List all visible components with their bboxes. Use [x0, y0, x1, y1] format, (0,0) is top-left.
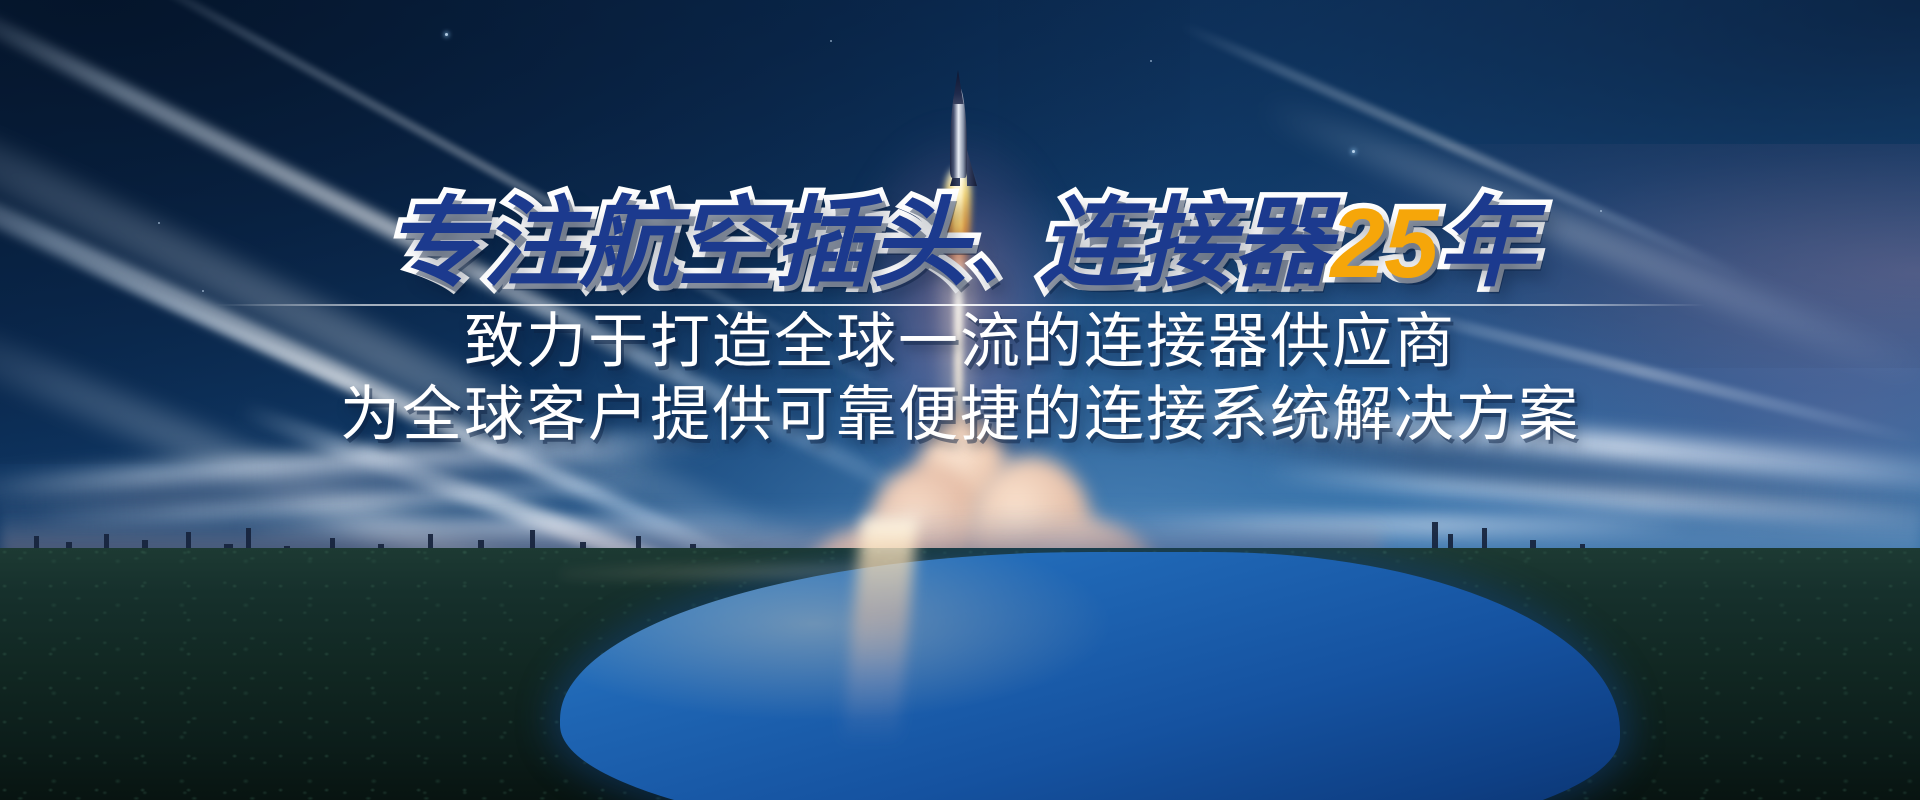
page-title: 专注航空插头、连接器25年 — [0, 194, 1920, 294]
banner-content: 专注航空插头、连接器25年 致力于打造全球一流的连接器供应商 为全球客户提供可靠… — [0, 0, 1920, 800]
headline-separator: 、 — [967, 206, 1039, 294]
headline-years-unit: 年 — [1438, 188, 1535, 298]
hero-banner: 专注航空插头、连接器25年 致力于打造全球一流的连接器供应商 为全球客户提供可靠… — [0, 0, 1920, 800]
headline-years-number: 25 — [1331, 188, 1438, 298]
headline-part-1: 专注航空插头 — [385, 188, 967, 298]
headline-part-2: 连接器 — [1039, 188, 1330, 298]
subtitle-line-2: 为全球客户提供可靠便捷的连接系统解决方案 — [0, 366, 1920, 453]
